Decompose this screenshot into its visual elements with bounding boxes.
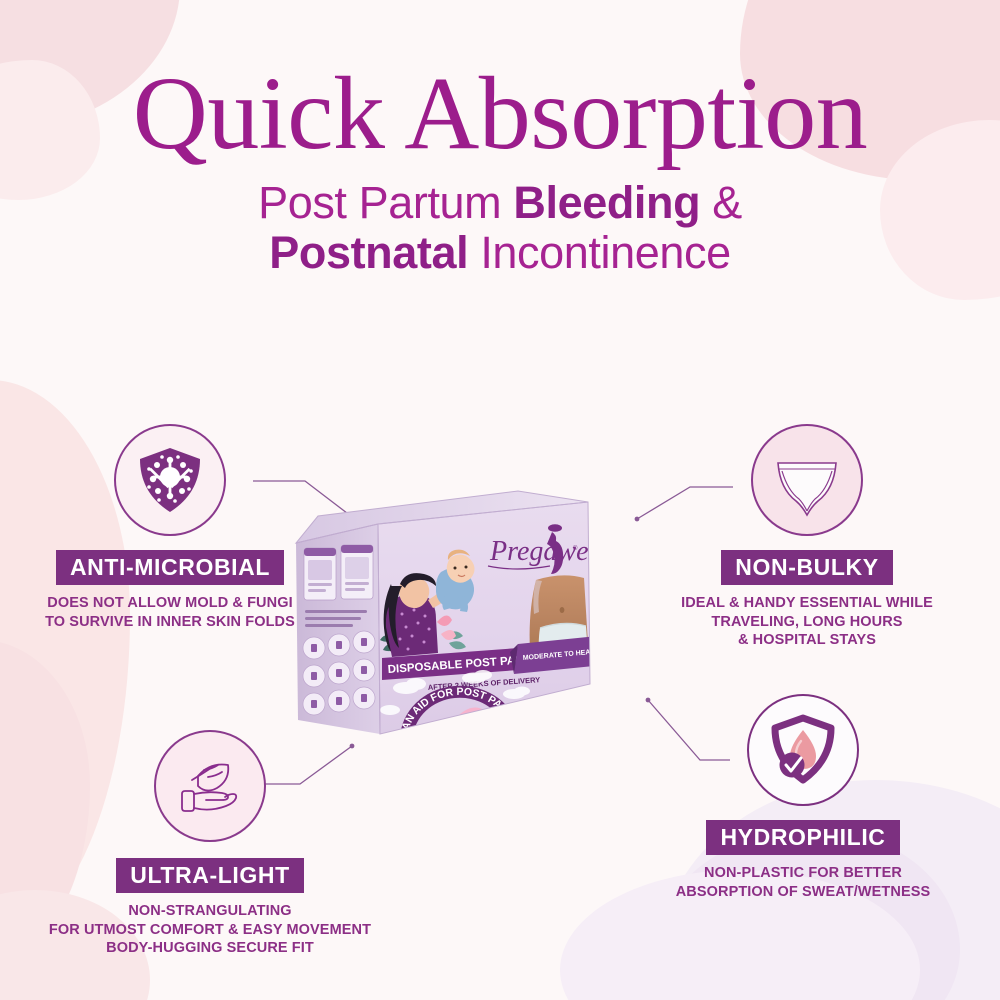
subtitle-line2-bold: Postnatal — [269, 227, 468, 278]
hydrophilic-title: HYDROPHILIC — [706, 820, 899, 855]
subtitle-line1-part-b: & — [700, 177, 742, 228]
non-bulky-badge-row: NON-BULKY — [652, 550, 962, 585]
panty-outline — [778, 463, 836, 515]
hand-feather-icon — [154, 730, 266, 842]
ultra-light-title: ULTRA-LIGHT — [116, 858, 303, 893]
feature-ultra-light[interactable]: ULTRA-LIGHT NON-STRANGULATING FOR UTMOST… — [20, 730, 400, 958]
shield-germ-icon — [114, 424, 226, 536]
anti-microbial-title: ANTI-MICROBIAL — [56, 550, 284, 585]
feature-anti-microbial[interactable]: ANTI-MICROBIAL DOES NOT ALLOW MOLD & FUN… — [20, 424, 320, 631]
anti-microbial-description: DOES NOT ALLOW MOLD & FUNGI TO SURVIVE I… — [20, 594, 320, 631]
page-title: Quick Absorption — [0, 62, 1000, 166]
feature-hydrophilic[interactable]: HYDROPHILIC NON-PLASTIC FOR BETTER ABSOR… — [638, 694, 968, 901]
hydrophilic-badge-row: HYDROPHILIC — [638, 820, 968, 855]
shield-droplet-check-icon — [747, 694, 859, 806]
hand-fingers — [194, 792, 228, 800]
subtitle-line1-bold: Bleeding — [513, 177, 700, 228]
brand-wordmark: Pregawear — [489, 536, 613, 567]
hand-wrist — [182, 791, 194, 811]
page-subtitle: Post Partum Bleeding & Postnatal Inconti… — [0, 178, 1000, 279]
ultra-light-badge-row: ULTRA-LIGHT — [20, 858, 400, 893]
anti-microbial-badge-row: ANTI-MICROBIAL — [20, 550, 320, 585]
subtitle-line1-part-a: Post Partum — [258, 177, 513, 228]
hydrophilic-description: NON-PLASTIC FOR BETTER ABSORPTION OF SWE… — [638, 864, 968, 901]
ultra-light-description: NON-STRANGULATING FOR UTMOST COMFORT & E… — [20, 902, 400, 958]
subtitle-line-2: Postnatal Incontinence — [0, 228, 1000, 278]
non-bulky-description: IDEAL & HANDY ESSENTIAL WHILE TRAVELING,… — [652, 594, 962, 650]
feature-non-bulky[interactable]: NON-BULKY IDEAL & HANDY ESSENTIAL WHILE … — [652, 424, 962, 650]
infographic-canvas: Quick Absorption Post Partum Bleeding & … — [0, 0, 1000, 1000]
non-bulky-title: NON-BULKY — [721, 550, 892, 585]
header-block: Quick Absorption Post Partum Bleeding & … — [0, 62, 1000, 279]
subtitle-line-1: Post Partum Bleeding & — [0, 178, 1000, 228]
hand-palm — [194, 794, 236, 810]
check-circle — [780, 753, 805, 778]
brand-trademark: ® — [573, 545, 578, 552]
subtitle-line2-regular: Incontinence — [468, 227, 731, 278]
panty-icon — [751, 424, 863, 536]
